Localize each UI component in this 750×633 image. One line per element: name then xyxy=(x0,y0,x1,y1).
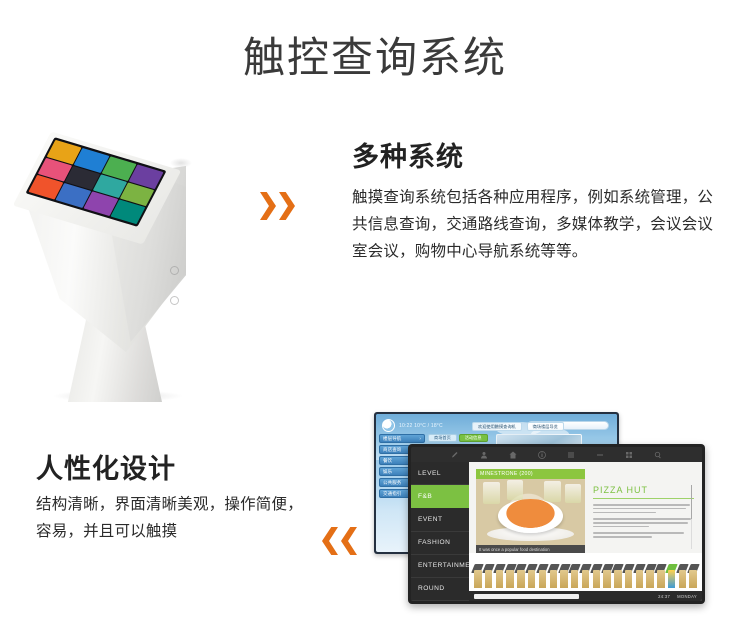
sidebar-item-fashion[interactable]: FASHION xyxy=(411,532,469,555)
carousel-thumb[interactable] xyxy=(581,562,591,588)
minus-icon[interactable] xyxy=(596,451,604,459)
front-screen-sidebar: LEVEL F&B EVENT FASHION ENTERTAINMENT RO… xyxy=(411,462,469,601)
front-screen-body: LEVEL F&B EVENT FASHION ENTERTAINMENT RO… xyxy=(411,462,702,601)
arrow-right-icon xyxy=(260,192,295,220)
kiosk-product-photo xyxy=(18,118,218,403)
grid-icon[interactable] xyxy=(625,451,633,459)
weather-widget: 10:22 10°C / 18°C xyxy=(382,419,443,432)
front-screen-mockup: LEVEL F&B EVENT FASHION ENTERTAINMENT RO… xyxy=(408,444,705,604)
sidebar-item-round[interactable]: ROUND xyxy=(411,578,469,601)
user-icon[interactable] xyxy=(480,451,488,459)
status-day: MONDAY xyxy=(677,594,697,599)
tab-item-active[interactable]: 活动信息 xyxy=(459,434,488,442)
detail-paragraph xyxy=(593,518,694,527)
arrow-left-icon xyxy=(322,527,357,555)
software-screens-photo: 10:22 10°C / 18°C 欢迎使用触摸查询机 商场楼层导览 商场首页 … xyxy=(374,412,714,608)
sidebar-item-event[interactable]: EVENT xyxy=(411,508,469,531)
food-photo xyxy=(476,479,585,545)
kiosk-sensor-icon xyxy=(170,296,179,305)
chevron-left-icon xyxy=(322,527,338,555)
menu-item-label: 商店查询 xyxy=(383,447,401,453)
carousel-thumb[interactable] xyxy=(516,562,526,588)
detail-paragraph xyxy=(593,532,694,537)
soup-bowl-decor xyxy=(498,499,563,533)
carousel-thumb[interactable] xyxy=(495,562,505,588)
image-subcaption: It was once a popular food destination xyxy=(476,545,585,553)
search-icon[interactable] xyxy=(654,451,662,459)
front-screen-statusbar: 24:37 MONDAY xyxy=(469,591,702,601)
back-screen-tabs: 商场首页 活动信息 xyxy=(428,434,488,442)
detail-paragraph xyxy=(593,504,694,513)
carousel-thumb[interactable] xyxy=(527,562,537,588)
tab-item[interactable]: 商场首页 xyxy=(428,434,457,442)
weather-icon xyxy=(382,419,395,432)
kiosk-sensor-icon xyxy=(170,266,179,275)
back-screen-pills: 欢迎使用触摸查询机 商场楼层导览 xyxy=(472,422,564,431)
carousel-thumb[interactable] xyxy=(570,562,580,588)
chevron-right-icon xyxy=(260,192,276,220)
glass-decor xyxy=(565,484,580,502)
carousel-thumb[interactable] xyxy=(505,562,515,588)
carousel-thumb[interactable] xyxy=(538,562,548,588)
marketing-page: 触控查询系统 xyxy=(0,0,750,633)
sidebar-item-entertainment[interactable]: ENTERTAINMENT xyxy=(411,555,469,578)
humanized-design-block: 人性化设计 结构清晰，界面清晰美观，操作简便，容易，并且可以触摸 xyxy=(36,452,316,545)
thumbnail-carousel[interactable] xyxy=(469,553,702,591)
carousel-thumb[interactable] xyxy=(473,562,483,588)
scrollbar-thumb[interactable] xyxy=(691,485,693,519)
glass-decor xyxy=(483,482,500,504)
carousel-thumb-active[interactable] xyxy=(667,562,677,588)
front-screen-ui: LEVEL F&B EVENT FASHION ENTERTAINMENT RO… xyxy=(411,447,702,601)
carousel-thumb[interactable] xyxy=(634,562,644,588)
humanized-design-heading: 人性化设计 xyxy=(36,452,316,486)
list-icon[interactable] xyxy=(567,451,575,459)
kiosk-brand-logo xyxy=(170,158,192,168)
humanized-design-body: 结构清晰，界面清晰美观，操作简便，容易，并且可以触摸 xyxy=(36,491,316,545)
status-text: 24:37 MONDAY xyxy=(658,594,697,599)
chevron-left-icon xyxy=(341,527,357,555)
page-title: 触控查询系统 xyxy=(0,30,750,86)
carousel-thumb[interactable] xyxy=(678,562,688,588)
menu-item-label: 交通指引 xyxy=(383,491,401,497)
kiosk-illustration xyxy=(18,118,218,403)
home-icon[interactable] xyxy=(509,451,517,459)
sidebar-item-fnb[interactable]: F&B xyxy=(411,485,469,508)
front-screen-main: MINESTRONE (200) It was once a popul xyxy=(469,462,702,601)
pill-item[interactable]: 商场楼层导览 xyxy=(527,422,564,431)
carousel-thumb[interactable] xyxy=(624,562,634,588)
chevron-right-icon xyxy=(279,192,295,220)
detail-title: PIZZA HUT xyxy=(593,485,694,495)
carousel-thumb[interactable] xyxy=(548,562,558,588)
carousel-thumb[interactable] xyxy=(559,562,569,588)
glass-decor xyxy=(544,481,561,502)
title-divider xyxy=(593,498,694,499)
multi-system-heading: 多种系统 xyxy=(352,140,724,174)
glass-decor xyxy=(507,480,523,500)
carousel-thumb[interactable] xyxy=(602,562,612,588)
pencil-icon[interactable] xyxy=(451,451,459,459)
weather-text: 10:22 10°C / 18°C xyxy=(399,423,443,429)
carousel-thumb[interactable] xyxy=(688,562,698,588)
chevron-right-icon: › xyxy=(419,436,421,441)
menu-item-label: 娱乐 xyxy=(383,469,392,475)
info-icon[interactable] xyxy=(538,451,546,459)
sidebar-item-level[interactable]: LEVEL xyxy=(411,462,469,485)
front-screen-toolbar xyxy=(411,447,702,462)
menu-item-label: 楼层导航 xyxy=(383,436,401,442)
status-time: 24:37 xyxy=(658,594,670,599)
menu-item[interactable]: 楼层导航› xyxy=(379,434,425,443)
multi-system-body: 触摸查询系统包括各种应用程序，例如系统管理，公共信息查询，交通路线查询，多媒体教… xyxy=(352,184,724,265)
content-area: MINESTRONE (200) It was once a popul xyxy=(469,462,702,553)
carousel-thumb[interactable] xyxy=(613,562,623,588)
multi-system-block: 多种系统 触摸查询系统包括各种应用程序，例如系统管理，公共信息查询，交通路线查询… xyxy=(352,140,724,265)
image-caption: MINESTRONE (200) xyxy=(476,469,585,479)
media-panel: MINESTRONE (200) It was once a popul xyxy=(476,469,585,553)
carousel-thumb[interactable] xyxy=(484,562,494,588)
pill-item[interactable]: 欢迎使用触摸查询机 xyxy=(472,422,522,431)
carousel-thumb[interactable] xyxy=(645,562,655,588)
menu-item-label: 餐饮 xyxy=(383,458,392,464)
carousel-thumb[interactable] xyxy=(591,562,601,588)
progress-slider[interactable] xyxy=(474,594,579,599)
carousel-thumb[interactable] xyxy=(656,562,666,588)
menu-item-label: 公共服务 xyxy=(383,480,401,486)
detail-panel: PIZZA HUT xyxy=(593,469,694,553)
